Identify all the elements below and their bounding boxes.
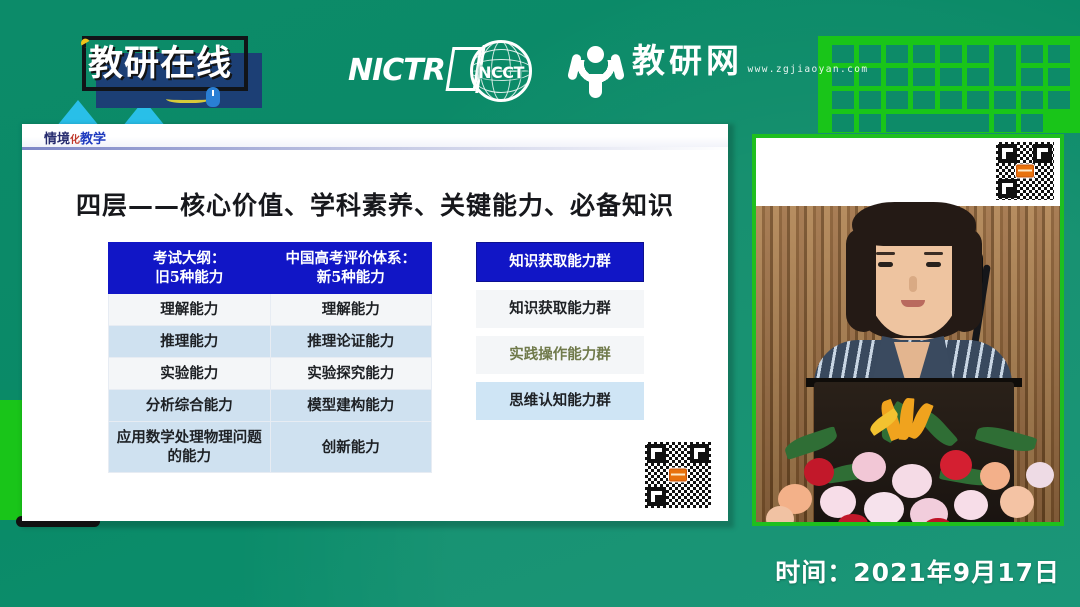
group-header: 知识获取能力群 [476, 242, 644, 282]
qr-code-icon [645, 442, 711, 508]
slide-body: 考试大纲： 旧5种能力 中国高考评价体系： 新5种能力 理解能力 理解能力 [22, 242, 728, 473]
table-cell: 理解能力 [109, 294, 271, 326]
zgjiaoyan-logo: 教研网 www.zgjiaoyan.com [568, 40, 868, 100]
qr-code-icon [996, 142, 1054, 200]
table-cell: 分析综合能力 [109, 390, 271, 422]
slide-title: 四层——核心价值、学科素养、关键能力、必备知识 [22, 186, 728, 222]
table-row: 分析综合能力 模型建构能力 [109, 390, 432, 422]
jiaoyan-online-logo: ◓ 教研在线 [70, 31, 262, 108]
video-panel-frame [752, 134, 1064, 526]
slide-header-bar: 情境化教学 [22, 124, 728, 150]
table-cell: 实验能力 [109, 358, 271, 390]
presentation-slide[interactable]: 情境化教学 四层——核心价值、学科素养、关键能力、必备知识 考试大纲： 旧5种能… [22, 124, 728, 521]
event-time-text: 时间：2021年9月17日 [775, 553, 1060, 589]
slide-header-text: 情境化教学 [44, 128, 106, 147]
table-cell: 实验探究能力 [270, 358, 432, 390]
table-row: 实验能力 实验探究能力 [109, 358, 432, 390]
zgjiaoyan-label: 教研网 [632, 41, 743, 80]
capability-comparison-table: 考试大纲： 旧5种能力 中国高考评价体系： 新5种能力 理解能力 理解能力 [108, 242, 432, 473]
table-row: 应用数学处理物理问题的能力 创新能力 [109, 422, 432, 473]
decor-green-bar-left [0, 400, 22, 520]
table-cell: 创新能力 [270, 422, 432, 473]
video-top-banner [756, 138, 1060, 206]
group-item: 知识获取能力群 [476, 290, 644, 328]
table-cell: 模型建构能力 [270, 390, 432, 422]
ncct-label: NCCT [473, 63, 529, 82]
table-cell: 应用数学处理物理问题的能力 [109, 422, 271, 473]
slide-qr-code[interactable] [642, 439, 714, 511]
banner-qr-code[interactable] [996, 142, 1054, 200]
table-header-row: 考试大纲： 旧5种能力 中国高考评价体系： 新5种能力 [109, 243, 432, 294]
table-row: 推理能力 推理论证能力 [109, 326, 432, 358]
table-cell: 理解能力 [270, 294, 432, 326]
group-item: 实践操作能力群 [476, 336, 644, 374]
table-cell: 推理能力 [109, 326, 271, 358]
table-cell: 推理论证能力 [270, 326, 432, 358]
presenter-video[interactable] [756, 138, 1060, 522]
ncct-logo: NCCT [470, 40, 532, 102]
flower-arrangement [764, 406, 1060, 522]
table-header-cell-new: 中国高考评价体系： 新5种能力 [270, 243, 432, 294]
zgjiaoyan-url: www.zgjiaoyan.com [747, 64, 868, 75]
nictr-label: NICTR [348, 53, 445, 88]
mouse-cord-icon [166, 93, 210, 103]
table-row: 理解能力 理解能力 [109, 294, 432, 326]
group-item: 思维认知能力群 [476, 382, 644, 420]
logo-text: 教研在线 [88, 37, 260, 91]
capability-groups-list: 知识获取能力群 知识获取能力群 实践操作能力群 思维认知能力群 [476, 242, 644, 473]
person-mark-icon [568, 40, 624, 100]
broadcast-screen: ◓ 教研在线 NICTR NCCT 教研网 www.zgjiaoyan.com [0, 0, 1080, 607]
table-header-cell-old: 考试大纲： 旧5种能力 [109, 243, 271, 294]
